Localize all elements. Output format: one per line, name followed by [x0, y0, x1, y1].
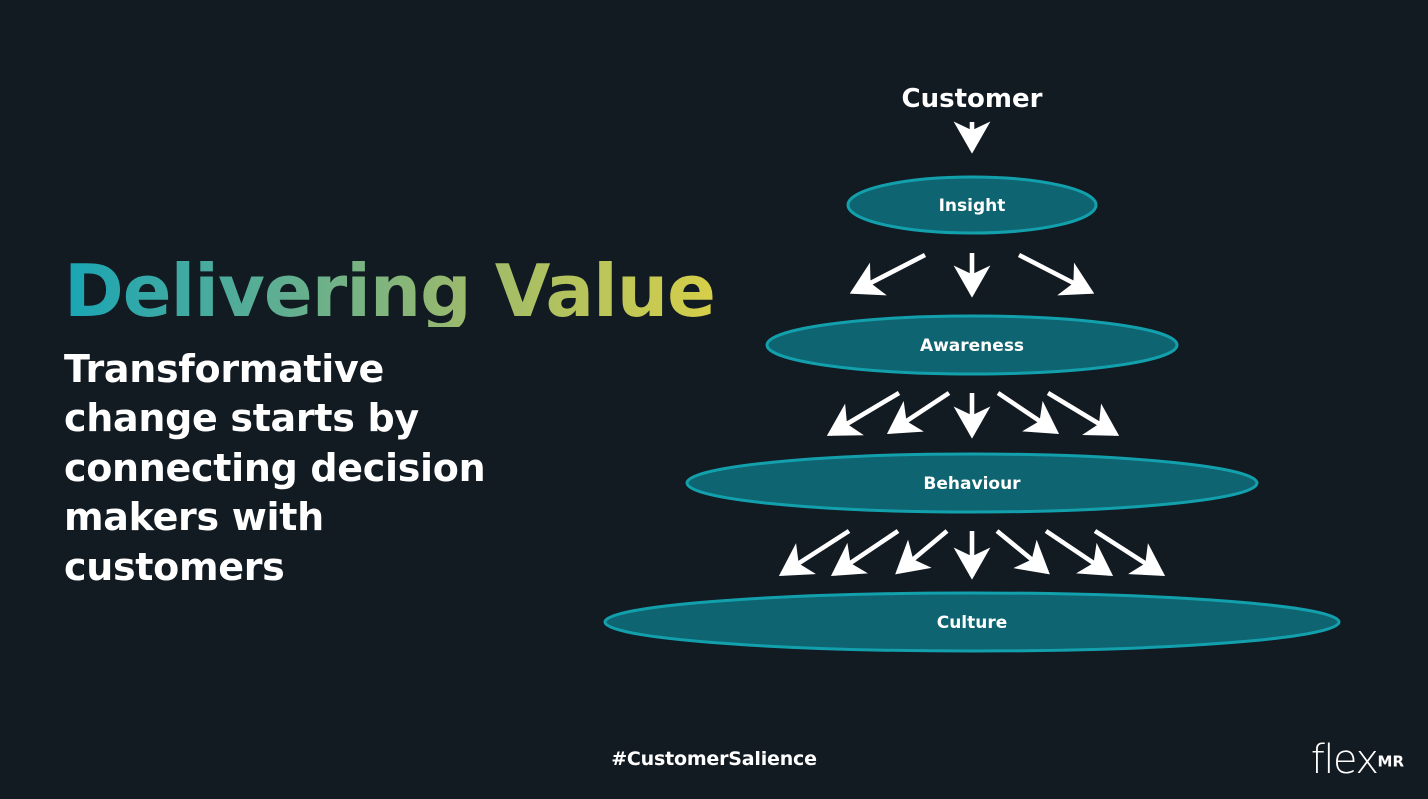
logo-wordmark: flex	[1311, 737, 1378, 783]
cascade-diagram: Customer Insight Awareness	[560, 50, 1400, 670]
arrow-group-awareness-to-behaviour	[830, 393, 1116, 435]
arrow-down-right-2	[1046, 531, 1110, 574]
arrow-down-right-1	[998, 393, 1056, 432]
page-subtitle: Transformative change starts by connecti…	[64, 345, 534, 592]
arrow-down-left-3	[782, 531, 849, 574]
level-label-awareness: Awareness	[920, 336, 1024, 356]
arrow-down-left-1	[890, 393, 949, 432]
arrow-down-left-2	[830, 393, 899, 434]
arrow-down-left-2	[834, 531, 898, 574]
arrow-down-right-3	[1095, 531, 1162, 574]
level-node-behaviour[interactable]: Behaviour	[687, 454, 1257, 512]
level-node-culture[interactable]: Culture	[605, 593, 1339, 651]
source-label: Customer	[902, 84, 1043, 114]
arrow-down-right	[1019, 255, 1091, 292]
level-node-insight[interactable]: Insight	[848, 177, 1096, 233]
arrow-down-left	[853, 255, 925, 292]
arrow-down-right-1	[997, 531, 1047, 572]
slide-canvas: Delivering Value Transformative change s…	[0, 0, 1428, 799]
logo-superscript: MR	[1378, 753, 1404, 771]
arrow-down-right-2	[1048, 393, 1116, 434]
hashtag-label: #CustomerSalience	[0, 748, 1428, 770]
level-label-culture: Culture	[937, 613, 1008, 633]
level-label-behaviour: Behaviour	[923, 474, 1021, 494]
arrow-group-insight-to-awareness	[853, 253, 1091, 294]
arrow-down-left-1	[898, 531, 947, 572]
level-node-awareness[interactable]: Awareness	[767, 316, 1177, 374]
level-label-insight: Insight	[939, 196, 1006, 216]
flexmr-logo: flexMR	[1311, 740, 1404, 780]
arrow-group-behaviour-to-culture	[782, 531, 1162, 576]
